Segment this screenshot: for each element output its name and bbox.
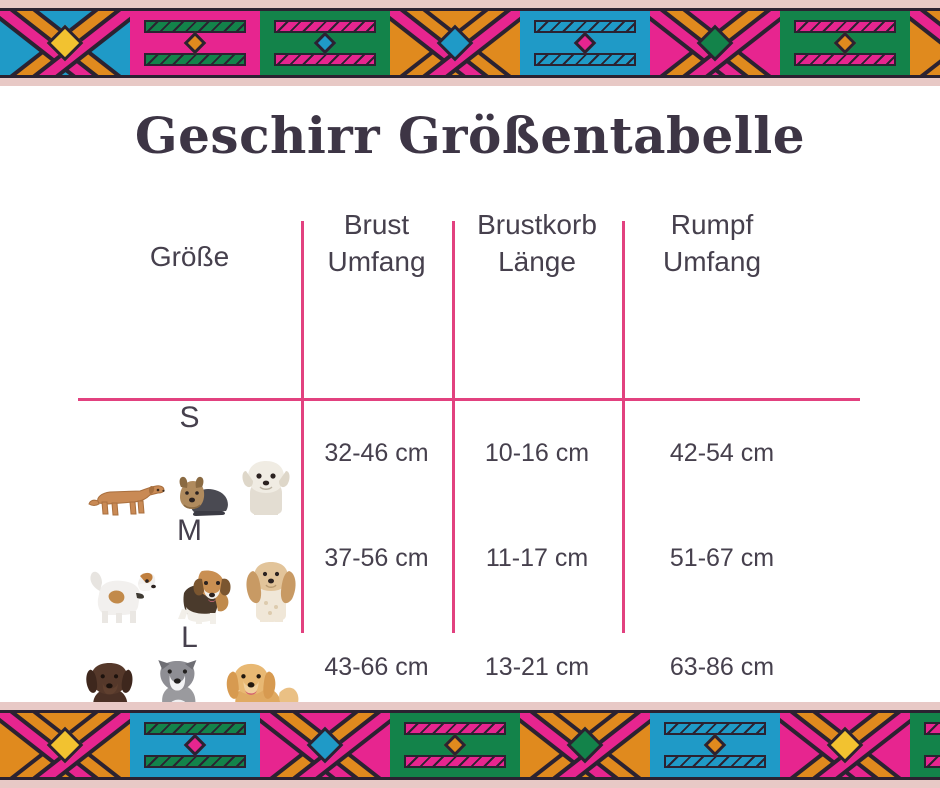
header-chest-girth: Brust Umfang [301, 206, 452, 280]
cell-body-girth: 63-86 cm [622, 653, 822, 682]
maltese-puppy-dog-icon [238, 459, 294, 519]
pattern-motif [780, 713, 910, 777]
size-chart-page: Geschirr Größentabelle Größe Brust Umfan… [0, 0, 940, 788]
size-cell: S [78, 401, 301, 521]
header-body-girth-line2: Umfang [622, 243, 802, 280]
ethnic-pattern-tiles [0, 11, 940, 75]
size-label: S [78, 401, 301, 435]
header-chest-girth-line2: Umfang [301, 243, 452, 280]
pattern-motif [520, 713, 650, 777]
chart-content: Geschirr Größentabelle Größe Brust Umfan… [0, 86, 940, 702]
yorkshire-terrier-dog-icon [172, 471, 234, 519]
cell-chest-girth: 37-56 cm [301, 544, 452, 573]
size-cell: M [78, 514, 301, 627]
pattern-motif [130, 11, 260, 75]
pattern-motif [780, 11, 910, 75]
header-body-girth-line1: Rumpf [622, 206, 802, 243]
header-chest-length-line1: Brustkorb [452, 206, 622, 243]
pattern-motif [260, 713, 390, 777]
pattern-motif [650, 713, 780, 777]
dachshund-dog-icon [86, 473, 168, 519]
cocker-spaniel-dog-icon [242, 559, 300, 625]
dog-illustrations [78, 439, 301, 519]
size-label: M [78, 514, 301, 548]
header-chest-girth-line1: Brust [301, 206, 452, 243]
header-body-girth: Rumpf Umfang [622, 206, 802, 280]
bottom-decorative-band [0, 702, 940, 788]
cell-chest-length: 10-16 cm [452, 439, 622, 468]
size-table: Größe Brust Umfang Brustkorb Länge Rumpf… [0, 196, 940, 666]
ethnic-pattern-strip-top [0, 8, 940, 78]
beagle-dog-icon [162, 563, 238, 625]
cell-body-girth: 51-67 cm [622, 544, 822, 573]
top-decorative-band [0, 0, 940, 86]
dog-illustrations [78, 545, 301, 625]
pattern-motif [910, 713, 940, 777]
cell-chest-length: 13-21 cm [452, 653, 622, 682]
pattern-motif [910, 11, 940, 75]
cell-chest-length: 11-17 cm [452, 544, 622, 573]
table-row: S [0, 401, 940, 521]
pattern-motif [390, 11, 520, 75]
ethnic-pattern-strip-bottom [0, 710, 940, 780]
pattern-motif [390, 713, 520, 777]
pattern-motif [0, 11, 130, 75]
header-size: Größe [78, 238, 301, 275]
jack-russell-terrier-dog-icon [80, 563, 158, 625]
page-title: Geschirr Größentabelle [0, 106, 940, 165]
table-row: M [0, 514, 940, 627]
cell-chest-girth: 43-66 cm [301, 653, 452, 682]
cell-chest-girth: 32-46 cm [301, 439, 452, 468]
pattern-motif [260, 11, 390, 75]
header-chest-length: Brustkorb Länge [452, 206, 622, 280]
pattern-motif [0, 713, 130, 777]
pattern-motif [130, 713, 260, 777]
ethnic-pattern-tiles [0, 713, 940, 777]
pattern-motif [650, 11, 780, 75]
pattern-motif [520, 11, 650, 75]
header-chest-length-line2: Länge [452, 243, 622, 280]
cell-body-girth: 42-54 cm [622, 439, 822, 468]
